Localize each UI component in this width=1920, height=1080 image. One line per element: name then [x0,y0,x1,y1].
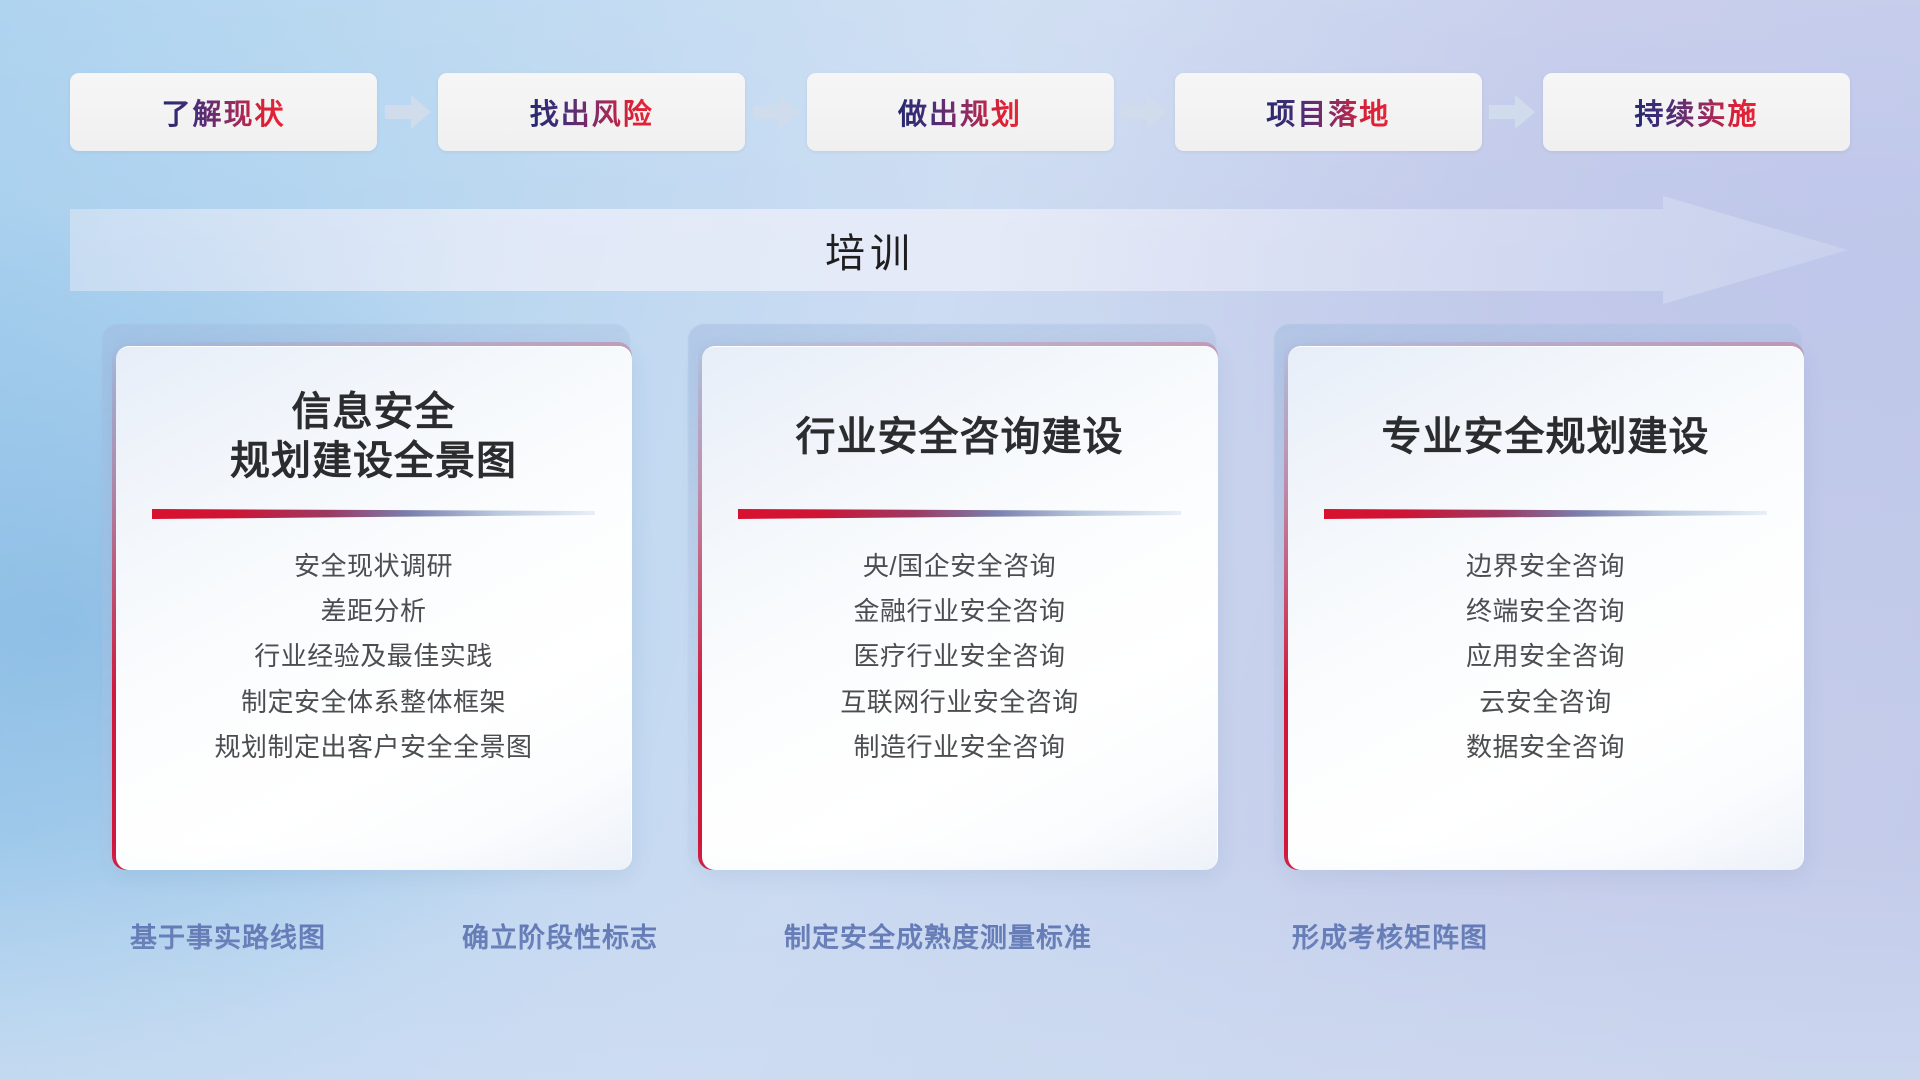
card-body: 专业安全规划建设 [1288,346,1804,870]
list-item: 边界安全咨询 [1466,551,1625,582]
step-arrow-3 [1114,95,1175,129]
list-item: 制定安全体系整体框架 [241,687,506,718]
step-box-4[interactable]: 项目落地 [1175,73,1482,151]
step-box-1[interactable]: 了解现状 [70,73,377,151]
process-step-row: 了解现状 找出风险 做出规划 项目落地 [70,72,1850,152]
card-body: 行业安全咨询建设 [702,346,1218,870]
card-1[interactable]: 信息安全 规划建设全景图 [110,332,638,872]
step-label: 项目落地 [1266,91,1390,133]
card-red-accent-frame: 专业安全规划建设 [1284,342,1804,870]
caption-4: 形成考核矩阵图 [1292,916,1488,955]
caption-2: 确立阶段性标志 [462,916,658,955]
list-item: 应用安全咨询 [1466,641,1625,672]
caption-1: 基于事实路线图 [130,916,326,955]
step-label: 找出风险 [530,91,654,133]
card-title-line-2: 规划建设全景图 [230,439,517,483]
card-row: 信息安全 规划建设全景图 [110,332,1810,872]
step-label: 了解现状 [161,91,285,133]
right-arrow-icon [385,95,431,129]
card-2[interactable]: 行业安全咨询建设 [696,332,1224,872]
card-body: 信息安全 规划建设全景图 [116,346,632,870]
card-3[interactable]: 专业安全规划建设 [1282,332,1810,872]
card-title-line-1: 信息安全 [292,390,456,434]
list-item: 金融行业安全咨询 [853,596,1065,627]
card-red-accent-frame: 信息安全 规划建设全景图 [112,342,632,870]
card-item-list: 央/国企安全咨询 金融行业安全咨询 医疗行业安全咨询 互联网行业安全咨询 制造行… [732,551,1187,763]
step-box-3[interactable]: 做出规划 [807,73,1114,151]
banner-label: 培训 [70,196,1670,304]
card-title: 专业安全规划建设 [1318,381,1773,493]
card-divider [738,507,1181,521]
card-item-list: 边界安全咨询 终端安全咨询 应用安全咨询 云安全咨询 数据安全咨询 [1318,551,1773,763]
card-divider [1324,507,1767,521]
slide-canvas: 了解现状 找出风险 做出规划 项目落地 [0,0,1920,1080]
card-title: 行业安全咨询建设 [732,381,1187,493]
right-arrow-icon [753,95,799,129]
step-label: 持续实施 [1634,91,1758,133]
list-item: 差距分析 [320,596,426,627]
card-title: 信息安全 规划建设全景图 [146,381,601,493]
list-item: 行业经验及最佳实践 [254,641,493,672]
list-item: 数据安全咨询 [1466,732,1625,763]
list-item: 互联网行业安全咨询 [840,687,1079,718]
step-arrow-1 [377,95,438,129]
step-box-5[interactable]: 持续实施 [1543,73,1850,151]
step-box-2[interactable]: 找出风险 [438,73,745,151]
caption-3: 制定安全成熟度测量标准 [784,916,1092,955]
step-label: 做出规划 [898,91,1022,133]
card-divider [152,507,595,521]
card-item-list: 安全现状调研 差距分析 行业经验及最佳实践 制定安全体系整体框架 规划制定出客户… [146,551,601,763]
card-title-line-1: 行业安全咨询建设 [796,411,1124,463]
divider-taper-icon [152,507,595,521]
step-arrow-4 [1482,95,1543,129]
list-item: 云安全咨询 [1479,687,1612,718]
list-item: 医疗行业安全咨询 [853,641,1065,672]
step-arrow-2 [745,95,806,129]
card-title-line-1: 专业安全规划建设 [1382,411,1710,463]
list-item: 制造行业安全咨询 [853,732,1065,763]
right-arrow-icon [1121,95,1167,129]
right-arrow-icon [1489,95,1535,129]
list-item: 安全现状调研 [294,551,453,582]
list-item: 终端安全咨询 [1466,596,1625,627]
divider-taper-icon [738,507,1181,521]
list-item: 规划制定出客户安全全景图 [214,732,532,763]
training-banner: 培训 [70,196,1848,304]
divider-taper-icon [1324,507,1767,521]
list-item: 央/国企安全咨询 [863,551,1056,582]
caption-row: 基于事实路线图 确立阶段性标志 制定安全成熟度测量标准 形成考核矩阵图 [0,916,1920,962]
card-red-accent-frame: 行业安全咨询建设 [698,342,1218,870]
